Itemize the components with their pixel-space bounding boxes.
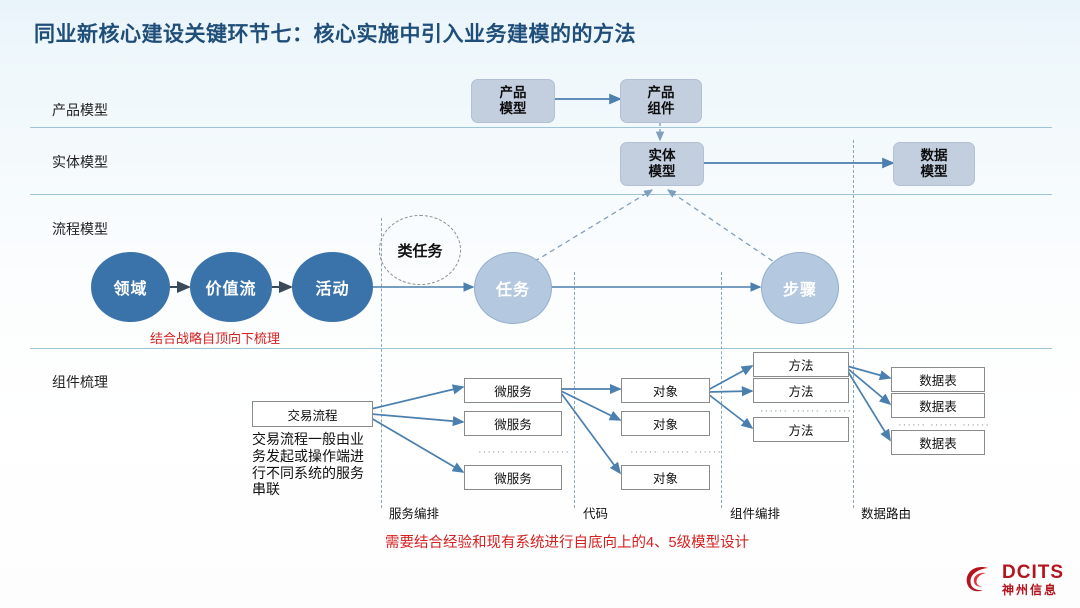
box-object-1[interactable]: 对象 [621,378,710,403]
circle-class-task[interactable]: 类任务 [379,215,461,285]
column-rule-data [853,140,854,508]
page-title: 同业新核心建设关键环节七：核心实施中引入业务建模的的方法 [34,18,636,48]
box-product-component-line1: 产品 [648,85,675,101]
bottom-note: 需要结合经验和现有系统进行自底向上的4、5级模型设计 [385,531,749,552]
box-object-2[interactable]: 对象 [621,411,710,436]
band-divider-2 [30,194,1052,195]
circle-activity[interactable]: 活动 [292,252,373,322]
box-data-model-line1: 数据 [921,148,948,164]
band-divider-3 [30,348,1052,349]
box-object-3[interactable]: 对象 [621,465,710,490]
box-datatable-2[interactable]: 数据表 [891,393,985,418]
box-product-model[interactable]: 产品 模型 [471,79,555,123]
box-entity-model-line1: 实体 [649,148,676,164]
slide-canvas: 同业新核心建设关键环节七：核心实施中引入业务建模的的方法 产品模型 实体模型 流… [0,0,1080,608]
circle-domain[interactable]: 领域 [91,252,170,322]
column-rule-component [721,272,722,508]
logo-text-cn: 神州信息 [1002,584,1064,596]
caption-code: 代码 [583,503,608,522]
box-method-3[interactable]: 方法 [753,417,849,442]
object-ellipsis: ······ ······ ······ [630,446,722,458]
box-entity-model-line2: 模型 [649,164,676,180]
circle-value-stream[interactable]: 价值流 [190,252,272,322]
box-entity-model[interactable]: 实体 模型 [620,142,704,186]
box-datatable-1[interactable]: 数据表 [891,367,985,392]
caption-data-routing: 数据路由 [861,503,911,522]
row-label-component-sorting: 组件梳理 [52,372,108,392]
logo-text-en: DCITS [1002,563,1064,582]
box-data-model-line2: 模型 [921,164,948,180]
box-product-component-line2: 组件 [648,101,675,117]
caption-service-orchestration: 服务编排 [389,503,439,522]
trade-flow-description: 交易流程一般由业务发起或操作端进行不同系统的服务串联 [252,431,372,498]
row-label-process-model: 流程模型 [52,219,108,239]
box-product-model-line1: 产品 [500,85,527,101]
row-label-product-model: 产品模型 [52,100,108,120]
circle-step[interactable]: 步骤 [761,252,839,324]
band-divider-1 [30,127,1052,128]
process-note: 结合战略自顶向下梳理 [150,328,280,347]
box-method-1[interactable]: 方法 [753,352,849,377]
circle-task[interactable]: 任务 [474,252,552,324]
box-trade-flow[interactable]: 交易流程 [252,401,373,427]
box-method-2[interactable]: 方法 [753,378,849,403]
brand-logo: DCITS 神州信息 [962,562,1064,596]
dcits-swirl-icon [962,562,996,596]
box-product-component[interactable]: 产品 组件 [620,79,702,123]
method-ellipsis: ······ ······ ······ [760,405,852,417]
box-microservice-1[interactable]: 微服务 [464,378,562,403]
box-datatable-3[interactable]: 数据表 [891,430,985,455]
caption-component-orchestration: 组件编排 [730,503,780,522]
box-data-model[interactable]: 数据 模型 [893,142,975,186]
column-rule-code [574,272,575,508]
box-product-model-line2: 模型 [500,101,527,117]
microservice-ellipsis: ······ ······ ······ [478,446,570,458]
box-microservice-2[interactable]: 微服务 [464,411,562,436]
row-label-entity-model: 实体模型 [52,152,108,172]
box-microservice-3[interactable]: 微服务 [464,465,562,490]
